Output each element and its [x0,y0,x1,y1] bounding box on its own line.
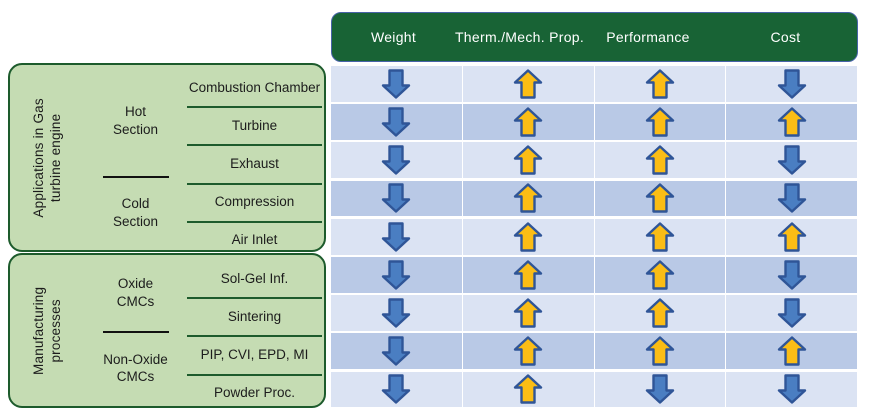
up-arrow-icon [513,221,543,253]
row-label: Powder Proc. [185,374,324,408]
up-arrow-icon [513,106,543,138]
up-arrow-icon [645,259,675,291]
matrix-cell [726,142,857,178]
down-arrow-icon [777,182,807,214]
up-arrow-icon [645,68,675,100]
subgroup-label-line: Cold [122,195,150,213]
up-arrow-icon [513,144,543,176]
group-panel-manufacturing: ManufacturingprocessesOxideCMCsNon-Oxide… [8,253,326,408]
down-arrow-icon [381,221,411,253]
down-arrow-icon [777,259,807,291]
up-arrow-icon [513,259,543,291]
subgroup-label-line: Section [113,213,158,231]
matrix-cell [463,142,595,178]
subgroup-label-line: Non-Oxide [103,351,168,369]
subgroup-hot-section: HotSection [86,65,185,176]
matrix-cell [463,257,595,293]
matrix-cell [726,219,857,255]
up-arrow-icon [513,297,543,329]
column-cost: Cost [712,13,859,61]
matrix-cell [463,66,595,102]
up-arrow-icon [645,144,675,176]
down-arrow-icon [645,373,675,405]
matrix-cell [463,104,595,140]
table-row [331,372,857,408]
matrix-cell [595,372,727,408]
matrix-cell [331,333,463,369]
row-label: Combustion Chamber [185,68,324,106]
subgroup-column: OxideCMCsNon-OxideCMCs [86,255,185,406]
up-arrow-icon [777,335,807,367]
matrix-cell [331,219,463,255]
subgroup-label-line: CMCs [117,293,155,311]
group-title-line: processes [48,286,65,374]
group-title-line: turbine engine [48,98,65,217]
down-arrow-icon [381,182,411,214]
up-arrow-icon [645,221,675,253]
up-arrow-icon [513,373,543,405]
matrix-cell [595,333,727,369]
group-title-applications-in-gas-turbine-engine: Applications in Gasturbine engine [10,65,86,250]
matrix-cell [726,66,857,102]
down-arrow-icon [381,106,411,138]
down-arrow-icon [777,68,807,100]
matrix-cell [595,104,727,140]
matrix-cell [331,104,463,140]
matrix-cell [595,142,727,178]
down-arrow-icon [381,297,411,329]
up-arrow-icon [777,106,807,138]
row-label: Sintering [185,297,324,335]
up-arrow-icon [645,182,675,214]
up-arrow-icon [645,335,675,367]
row-label: Sol-Gel Inf. [185,259,324,297]
row-label: Exhaust [185,144,324,182]
table-row [331,295,857,331]
subgroup-label-line: Oxide [118,275,153,293]
down-arrow-icon [381,373,411,405]
row-label: Turbine [185,106,324,144]
group-title-line: Applications in Gas [31,98,48,217]
row-label: Compression [185,183,324,221]
matrix-cell [463,372,595,408]
subgroup-label-line: Section [113,121,158,139]
table-row [331,66,857,102]
subgroup-non-oxide-cmcs: Non-OxideCMCs [86,331,185,407]
up-arrow-icon [513,68,543,100]
subgroup-column: HotSectionColdSection [86,65,185,250]
subgroup-label-line: Hot [125,103,146,121]
matrix-cell [331,66,463,102]
down-arrow-icon [777,297,807,329]
matrix-cell [595,295,727,331]
table-row [331,333,857,369]
group-title-manufacturing-processes: Manufacturingprocesses [10,255,86,406]
matrix-figure: Applications in Gasturbine engineHotSect… [0,0,870,416]
down-arrow-icon [381,259,411,291]
up-arrow-icon [645,297,675,329]
matrix-cell [331,257,463,293]
matrix-cell [726,333,857,369]
table-row [331,181,857,217]
row-label: Air Inlet [185,221,324,252]
column-performance: Performance [584,13,712,61]
column-weight: Weight [332,13,455,61]
matrix-cell [595,181,727,217]
matrix-cell [595,219,727,255]
up-arrow-icon [645,106,675,138]
matrix-cell [463,295,595,331]
matrix-cell [595,66,727,102]
row-label-column: Sol-Gel Inf.SinteringPIP, CVI, EPD, MIPo… [185,255,324,406]
group-title-line: Manufacturing [31,286,48,374]
up-arrow-icon [513,335,543,367]
row-label-column: Combustion ChamberTurbineExhaustCompress… [185,65,324,250]
table-row [331,257,857,293]
matrix-cell [331,295,463,331]
up-arrow-icon [513,182,543,214]
matrix-cell [726,257,857,293]
matrix-cell [331,142,463,178]
matrix-cell [463,219,595,255]
table-row [331,219,857,255]
matrix-cell [726,295,857,331]
down-arrow-icon [381,335,411,367]
matrix-cell [463,333,595,369]
matrix-cell [595,257,727,293]
subgroup-label-line: CMCs [117,368,155,386]
matrix-cell [726,372,857,408]
matrix-cell [726,181,857,217]
subgroup-oxide-cmcs: OxideCMCs [86,255,185,331]
down-arrow-icon [381,68,411,100]
row-label: PIP, CVI, EPD, MI [185,335,324,373]
table-row [331,142,857,178]
down-arrow-icon [381,144,411,176]
up-arrow-icon [777,221,807,253]
matrix-cell [463,181,595,217]
down-arrow-icon [777,373,807,405]
matrix-cell [726,104,857,140]
matrix-cell [331,372,463,408]
subgroup-cold-section: ColdSection [86,176,185,250]
down-arrow-icon [777,144,807,176]
column-thermal-mechanical-properties: Therm./Mech. Prop. [455,13,584,61]
matrix-cell [331,181,463,217]
table-row [331,104,857,140]
group-panel-applications: Applications in Gasturbine engineHotSect… [8,63,326,252]
column-header-bar: WeightTherm./Mech. Prop.PerformanceCost [331,12,858,62]
arrow-matrix-grid [331,66,857,410]
